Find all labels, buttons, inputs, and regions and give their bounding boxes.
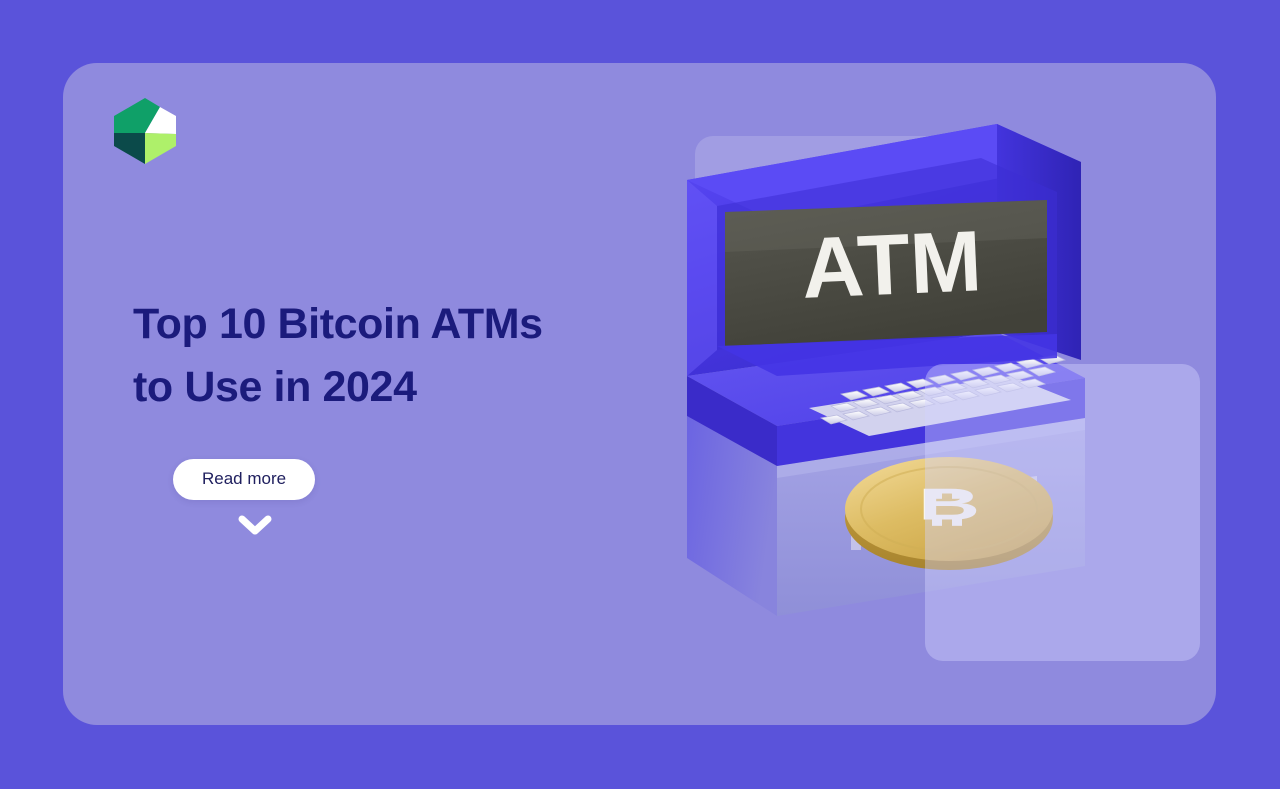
scroll-down-chevron[interactable]	[237, 513, 273, 537]
page-title: Top 10 Bitcoin ATMs to Use in 2024	[133, 293, 693, 419]
hero-copy-block: Top 10 Bitcoin ATMs to Use in 2024 Read …	[133, 293, 693, 537]
hexagon-cube-logo-icon	[112, 96, 178, 166]
hero-card: Top 10 Bitcoin ATMs to Use in 2024 Read …	[63, 63, 1216, 725]
atm-screen-label: ATM	[800, 213, 984, 317]
brand-logo[interactable]	[112, 96, 178, 166]
read-more-button[interactable]: Read more	[173, 459, 315, 500]
page-background: Top 10 Bitcoin ATMs to Use in 2024 Read …	[0, 0, 1280, 789]
chevron-down-icon	[237, 513, 273, 537]
illustration-area: B	[663, 63, 1216, 725]
deco-square-bottom	[925, 364, 1200, 661]
